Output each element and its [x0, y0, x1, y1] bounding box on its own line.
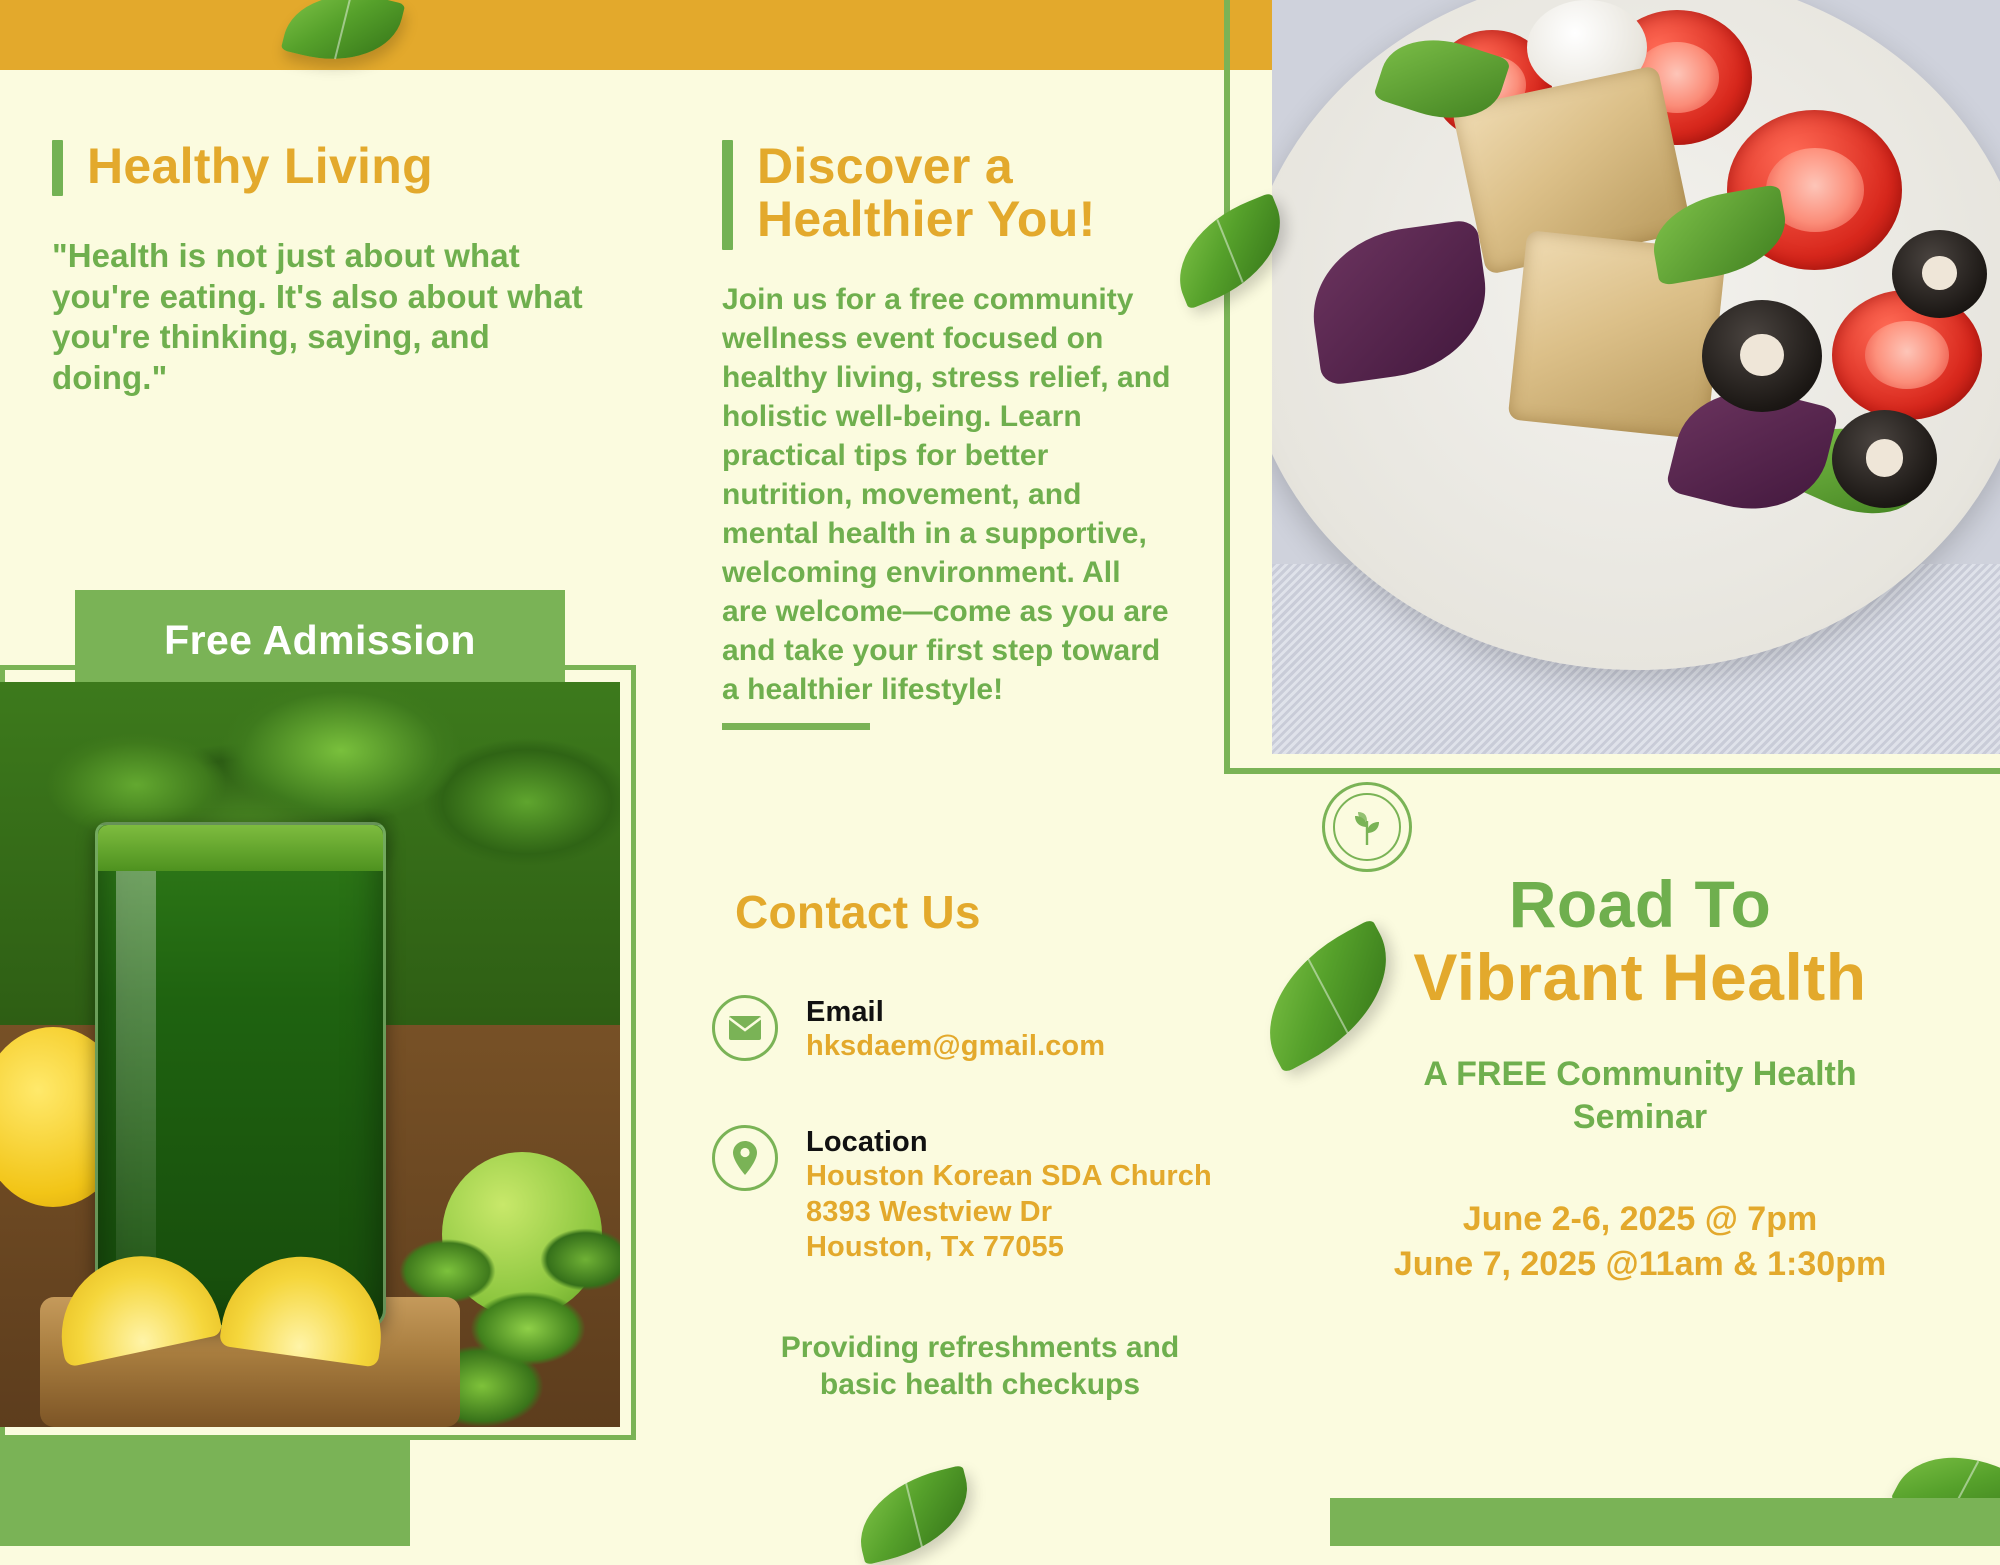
refreshments-line2: basic health checkups: [700, 1367, 1260, 1404]
map-pin-icon: [712, 1125, 778, 1191]
location-label: Location: [806, 1125, 1212, 1159]
discover-header: Discover a Healthier You!: [722, 140, 1192, 250]
location-name: Houston Korean SDA Church: [806, 1159, 1212, 1194]
seminar-dates: June 2-6, 2025 @ 7pm June 7, 2025 @11am …: [1290, 1197, 1990, 1288]
brochure-canvas: Healthy Living "Health is not just about…: [0, 0, 2000, 1545]
location-city-zip: Houston, Tx 77055: [806, 1230, 1212, 1265]
healthy-living-header: Healthy Living: [52, 140, 652, 196]
seminar-title-line2: Vibrant Health: [1290, 941, 1990, 1014]
seminar-subtitle: A FREE Community Health Seminar: [1290, 1053, 1990, 1139]
smoothie-photo: [0, 682, 620, 1427]
location-street: 8393 Westview Dr: [806, 1195, 1212, 1230]
refreshments-note: Providing refreshments and basic health …: [700, 1330, 1260, 1403]
leaf-icon: [848, 1465, 980, 1565]
black-olive: [1892, 230, 1987, 318]
seminar-title-line1: Road To: [1290, 868, 1990, 941]
salad-photo: [1272, 0, 2000, 754]
health-quote: "Health is not just about what you're ea…: [52, 236, 612, 398]
discover-heading-line2: Healthier You!: [757, 193, 1096, 246]
seminar-subtitle-line2: Seminar: [1330, 1096, 1950, 1139]
discover-heading-line1: Discover a: [757, 140, 1096, 193]
smoothie-glass: [95, 822, 386, 1328]
seminar-subtitle-line1: A FREE Community Health: [1330, 1053, 1950, 1096]
leaf-sprout-icon: [1333, 793, 1401, 861]
left-column: Healthy Living "Health is not just about…: [52, 140, 652, 398]
right-column: Road To Vibrant Health A FREE Community …: [1290, 868, 1990, 1288]
top-gold-bar: [0, 0, 1272, 70]
contact-us-heading: Contact Us: [735, 885, 981, 939]
contact-email-row[interactable]: Email hksdaem@gmail.com: [712, 995, 1105, 1065]
leaf-sprout-badge: [1322, 782, 1412, 872]
black-olive: [1702, 300, 1822, 412]
refreshments-line1: Providing refreshments and: [700, 1330, 1260, 1367]
accent-bar-icon: [52, 140, 63, 196]
black-olive: [1832, 410, 1937, 508]
healthy-living-heading: Healthy Living: [87, 140, 433, 193]
email-value[interactable]: hksdaem@gmail.com: [806, 1029, 1105, 1064]
event-description: Join us for a free community wellness ev…: [722, 280, 1172, 709]
seminar-date-line1: June 2-6, 2025 @ 7pm: [1290, 1197, 1990, 1243]
accent-bar-icon: [722, 140, 733, 250]
bottom-right-green-bar: [1330, 1498, 2000, 1546]
middle-column: Discover a Healthier You! Join us for a …: [722, 140, 1192, 730]
smoothie-froth: [98, 825, 383, 871]
contact-location-row[interactable]: Location Houston Korean SDA Church 8393 …: [712, 1125, 1212, 1265]
description-underline: [722, 723, 870, 730]
envelope-icon: [712, 995, 778, 1061]
bottom-left-green-bar: [0, 1438, 410, 1546]
free-admission-label: Free Admission: [164, 617, 476, 664]
email-label: Email: [806, 995, 1105, 1029]
seminar-date-line2: June 7, 2025 @11am & 1:30pm: [1290, 1242, 1990, 1288]
